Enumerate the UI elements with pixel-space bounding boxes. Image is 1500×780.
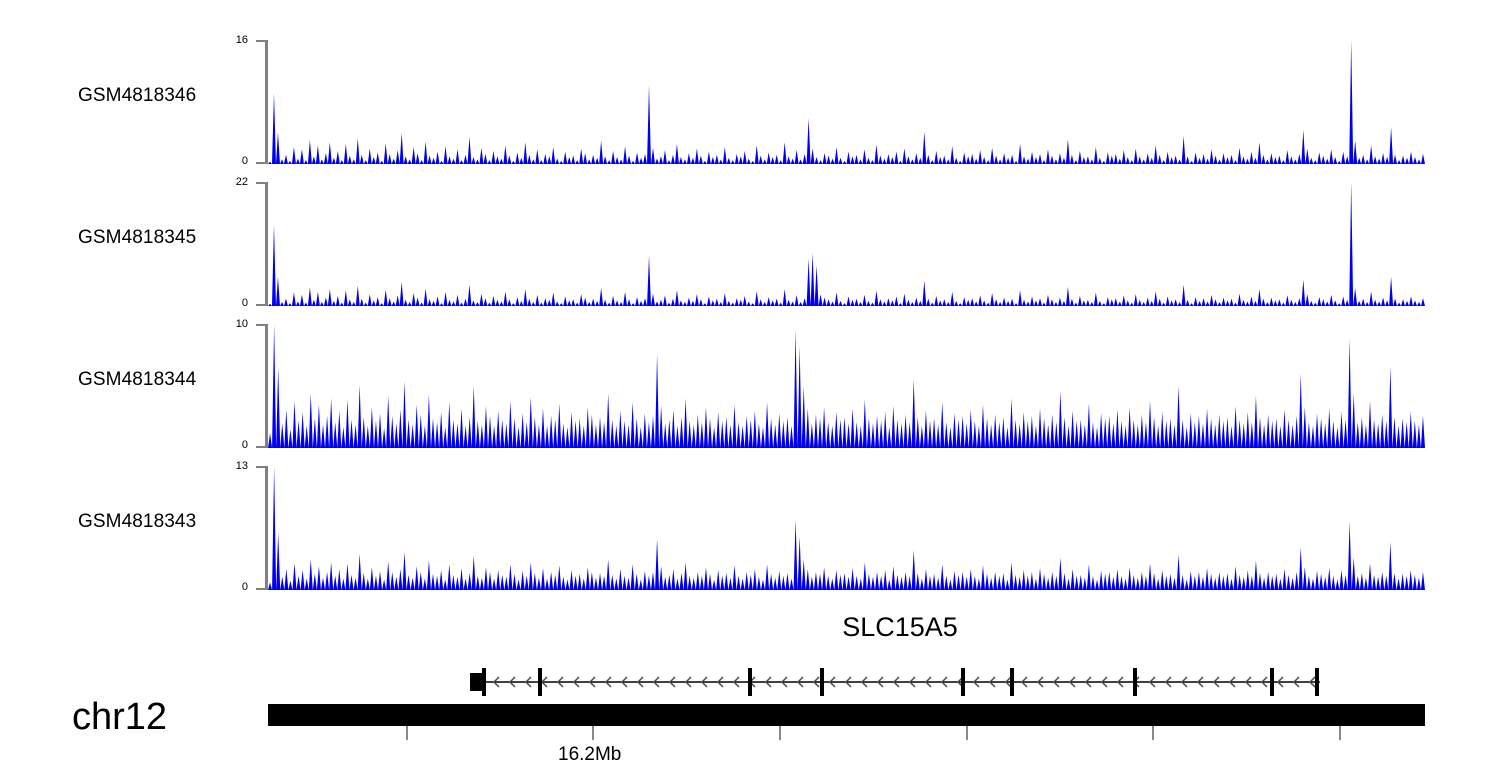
- track-axis-max-2: 10: [236, 318, 248, 330]
- track-axis-min-0: 0: [242, 155, 248, 167]
- track-axis-min-2: 0: [242, 439, 248, 451]
- track-label-0: GSM4818346: [78, 85, 196, 107]
- signal-plot-2[interactable]: [268, 324, 1425, 448]
- signal-track-0: GSM4818346 16 0: [0, 34, 1500, 170]
- signal-plot-3[interactable]: [268, 466, 1425, 590]
- signal-track-1: GSM4818345 22 0: [0, 176, 1500, 312]
- track-axis-max-0: 16: [236, 34, 248, 46]
- track-label-2: GSM4818344: [78, 369, 196, 391]
- track-axis-max-3: 13: [236, 460, 248, 472]
- axis-tick-bottom-2: [256, 446, 268, 448]
- track-axis-max-1: 22: [236, 176, 248, 188]
- axis-tick-bottom-0: [256, 162, 268, 164]
- track-label-3: GSM4818343: [78, 511, 196, 533]
- track-axis-min-1: 0: [242, 297, 248, 309]
- gene-name-label: SLC15A5: [760, 612, 1040, 643]
- chromosome-row: chr12 16.2Mb: [0, 696, 1500, 780]
- scale-label-0: 16.2Mb: [558, 744, 621, 766]
- signal-plot-0[interactable]: [268, 40, 1425, 164]
- chromosome-ideogram-bar[interactable]: [268, 704, 1425, 726]
- gene-annotation-track[interactable]: SLC15A5: [0, 612, 1500, 702]
- signal-area-0: [268, 40, 1425, 164]
- signal-track-3: GSM4818343 13 0: [0, 460, 1500, 596]
- signal-track-2: GSM4818344 10 0: [0, 318, 1500, 454]
- signal-area-2: [268, 324, 1425, 448]
- signal-plot-1[interactable]: [268, 182, 1425, 306]
- genome-browser-figure: GSM4818346 16 0 GSM4818345 22 0 GSM48183…: [0, 0, 1500, 780]
- signal-area-3: [268, 466, 1425, 590]
- track-axis-min-3: 0: [242, 581, 248, 593]
- track-label-1: GSM4818345: [78, 227, 196, 249]
- axis-tick-bottom-3: [256, 588, 268, 590]
- signal-area-1: [268, 182, 1425, 306]
- axis-tick-bottom-1: [256, 304, 268, 306]
- scale-ticks-svg: [0, 726, 1500, 746]
